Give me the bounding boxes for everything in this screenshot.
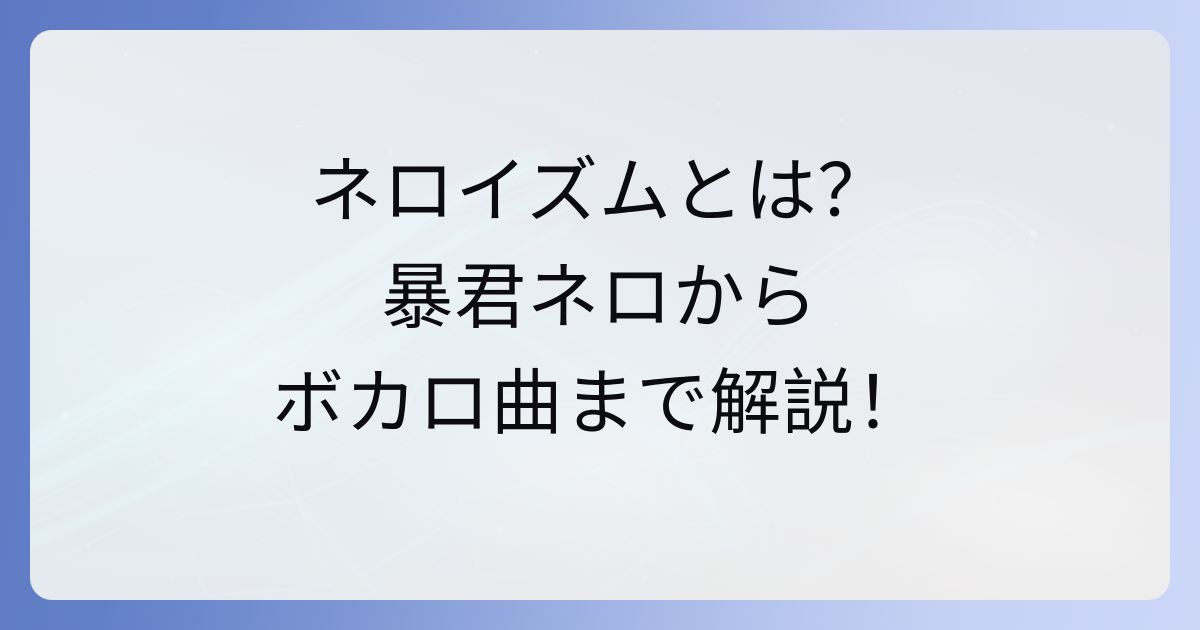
dust-speck-texture <box>30 30 1170 600</box>
wispy-filament-texture <box>30 30 1170 600</box>
card-tint-warm <box>30 30 1170 600</box>
thumbnail-canvas: ネロイズムとは？ 暴君ネロから ボカロ曲まで解説！ <box>0 0 1200 630</box>
content-card <box>30 30 1170 600</box>
card-tint-cool <box>30 30 1170 600</box>
